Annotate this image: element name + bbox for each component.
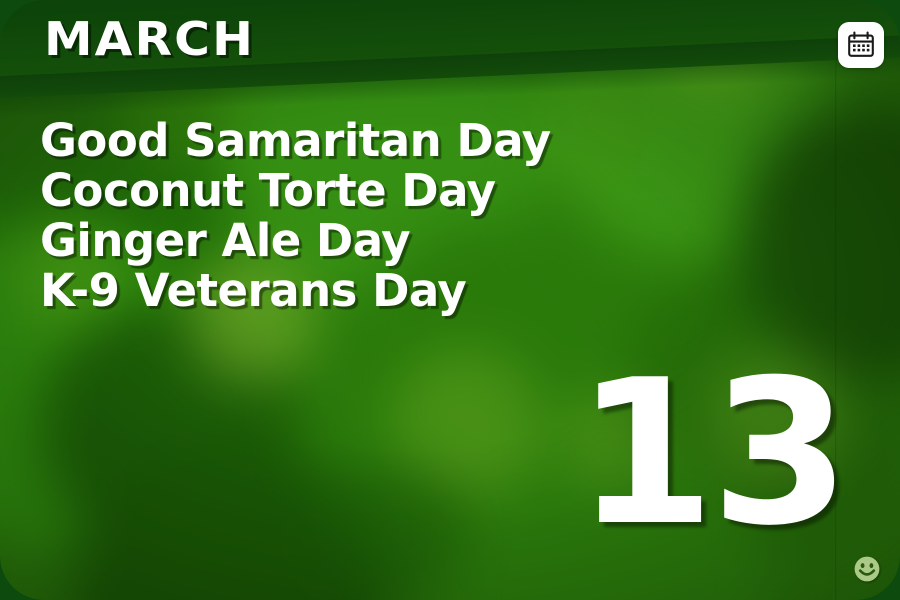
observance-list: Good Samaritan Day Coconut Torte Day Gin… <box>40 116 760 316</box>
month-label: MARCH <box>44 16 255 62</box>
day-number: 13 <box>576 370 846 538</box>
calendar-icon[interactable] <box>838 22 884 68</box>
observance-item: Good Samaritan Day <box>40 116 760 166</box>
observance-item: Ginger Ale Day <box>40 216 760 266</box>
observance-item: Coconut Torte Day <box>40 166 760 216</box>
card-panel: MARCH Good Samaritan Day Coconut Torte D… <box>0 0 900 600</box>
observance-item: K-9 Veterans Day <box>40 266 760 316</box>
calendar-day-card: MARCH Good Samaritan Day Coconut Torte D… <box>0 0 900 600</box>
smiley-face-icon[interactable] <box>853 555 881 583</box>
